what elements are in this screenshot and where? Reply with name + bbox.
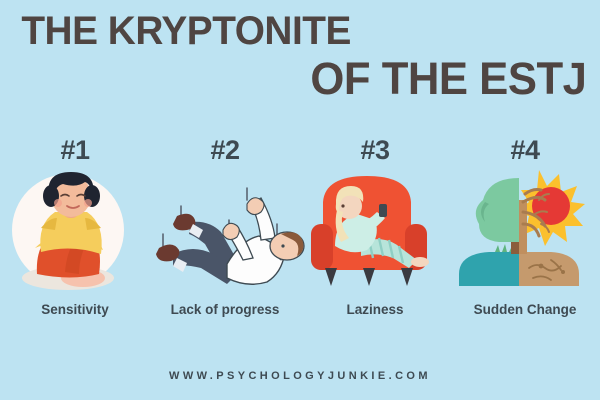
- website-footer: WWW.PSYCHOLOGYJUNKIE.COM: [0, 370, 600, 382]
- item-sudden-change: #4: [450, 136, 600, 346]
- item-caption-2: Lack of progress: [160, 302, 290, 318]
- item-number-4: #4: [510, 136, 539, 166]
- item-number-3: #3: [360, 136, 389, 166]
- title-line-2: OF THE ESTJ: [18, 54, 600, 104]
- item-caption-4: Sudden Change: [460, 302, 590, 318]
- infographic-poster: THE KRYPTONITE OF THE ESTJ #1: [0, 0, 600, 400]
- illustration-person-on-armchair: [305, 168, 445, 296]
- item-caption-3: Laziness: [310, 302, 440, 318]
- item-sensitivity: #1: [0, 136, 150, 346]
- item-number-1: #1: [60, 136, 89, 166]
- illustration-split-tree: [455, 168, 595, 296]
- item-laziness: #3: [300, 136, 450, 346]
- illustration-woman-hugging-knees: [5, 168, 145, 296]
- title-line-1: THE KRYPTONITE: [0, 8, 582, 54]
- item-caption-1: Sensitivity: [10, 302, 140, 318]
- item-number-2: #2: [210, 136, 239, 166]
- kryptonite-items-row: #1: [0, 136, 600, 346]
- item-lack-of-progress: #2: [150, 136, 300, 346]
- poster-title: THE KRYPTONITE OF THE ESTJ: [0, 8, 600, 104]
- illustration-man-falling: [155, 168, 295, 296]
